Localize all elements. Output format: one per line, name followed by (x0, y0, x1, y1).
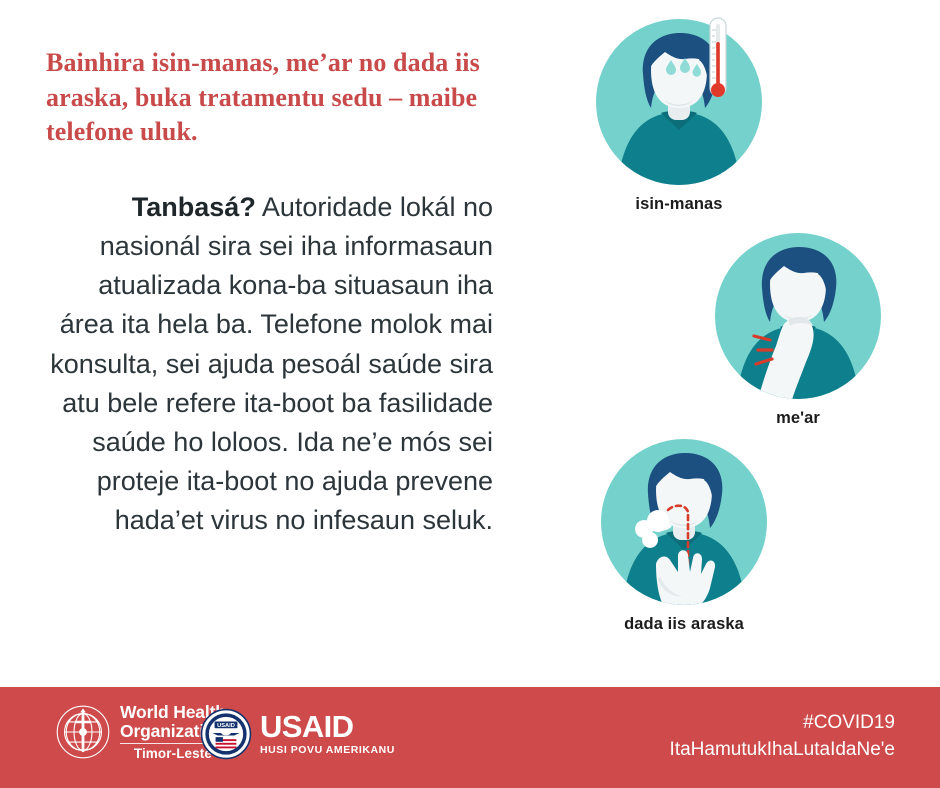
left-text-column: Bainhira isin-manas, me’ar no dada iis a… (0, 0, 540, 687)
usaid-seal-icon: USAID (200, 708, 252, 760)
hashtag-block: #COVID19 ItaHamutukIhaLutaIdaNe'e (670, 710, 895, 764)
thermometer-icon (710, 18, 726, 97)
usaid-tagline: HUSI POVU AMERIKANU (260, 744, 395, 756)
usaid-logo: USAID USAID HUSI POVU AMERIKANU (200, 708, 395, 760)
usaid-wordmark: USAID HUSI POVU AMERIKANU (260, 712, 395, 755)
body-text: Autoridade lokál no nasionál sira sei ih… (50, 192, 493, 535)
usaid-word: USAID (260, 712, 395, 741)
footer-bar: World Health Organization Timor-Leste US… (0, 687, 940, 788)
symptom-list: isin-manas (540, 0, 940, 687)
symptom-caption-breath: dada iis araska (598, 615, 770, 634)
symptom-item-fever: isin-manas (593, 16, 765, 214)
hashtag-covid19: #COVID19 (670, 710, 895, 737)
symptom-item-breath: dada iis araska (598, 436, 770, 634)
hashtag-campaign: ItaHamutukIhaLutaIdaNe'e (670, 737, 895, 764)
symptom-item-cough: me'ar (712, 230, 884, 428)
cough-into-arm-icon (712, 230, 884, 402)
symptom-caption-cough: me'ar (712, 409, 884, 428)
cough-illustration (712, 230, 884, 402)
headline: Bainhira isin-manas, me’ar no dada iis a… (46, 46, 506, 150)
svg-text:USAID: USAID (217, 723, 235, 729)
fever-illustration (593, 16, 765, 188)
shortness-of-breath-icon (598, 436, 770, 608)
body-paragraph: Tanbasá? Autoridade lokál no nasionál si… (38, 188, 493, 540)
symptom-caption-fever: isin-manas (593, 195, 765, 214)
body-lead-question: Tanbasá? (132, 192, 256, 222)
who-emblem-icon (55, 704, 111, 760)
fever-person-thermometer-icon (593, 16, 765, 188)
breath-illustration (598, 436, 770, 608)
